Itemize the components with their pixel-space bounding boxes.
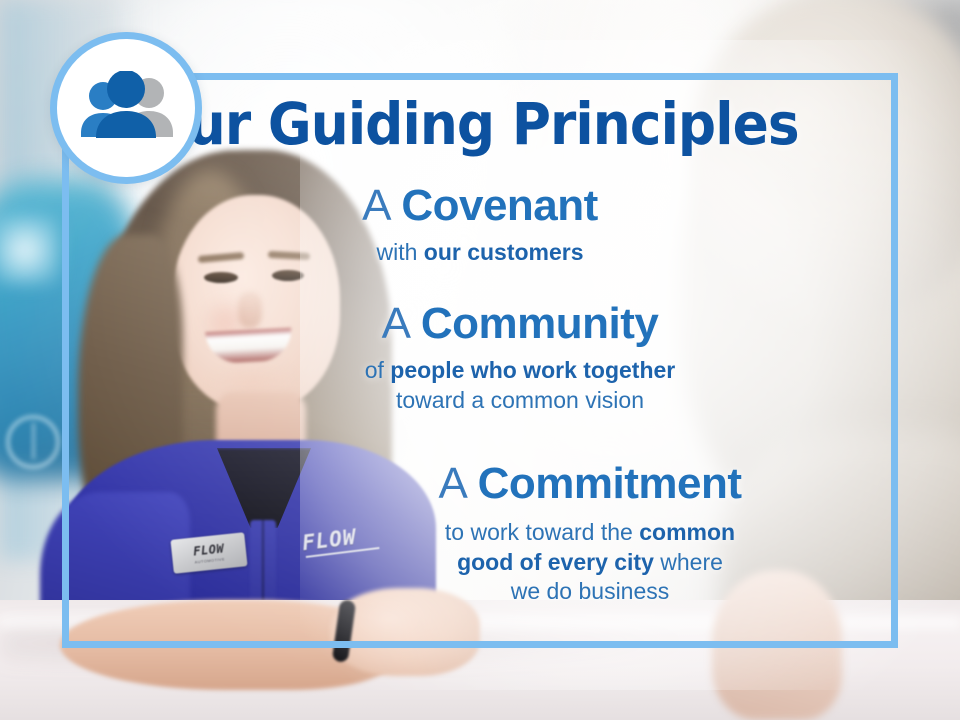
principle-3-subtext: to work toward the commongood of every c… [172,518,960,608]
people-group-icon [74,71,178,145]
principle-1-heading: A Covenant [62,183,898,230]
poster-canvas: FLOW AUTOMOTIVE FLOW Our Guiding Princip… [0,0,960,720]
principle-2-article: A [382,299,409,348]
principle-commitment: A Commitment to work toward the commongo… [62,461,960,607]
principle-3-word: Commitment [478,459,742,508]
principle-3-article: A [438,459,465,508]
page-title: Our Guiding Principles [95,95,848,153]
principle-1-article: A [362,181,389,230]
copy-block: Our Guiding Principles A Covenant with o… [62,73,898,648]
principle-2-subtext: of people who work togethertoward a comm… [102,356,938,416]
principle-2-word: Community [421,299,659,348]
principle-1-word: Covenant [401,181,597,230]
principle-1-subtext: with our customers [62,238,898,268]
people-group-badge [50,32,202,184]
vw-logo-icon [6,415,60,469]
principle-community: A Community of people who work togethert… [62,301,938,415]
principle-covenant: A Covenant with our customers [62,183,960,268]
car-highlight [0,215,60,285]
principle-3-heading: A Commitment [172,461,960,508]
principle-2-heading: A Community [102,301,938,348]
